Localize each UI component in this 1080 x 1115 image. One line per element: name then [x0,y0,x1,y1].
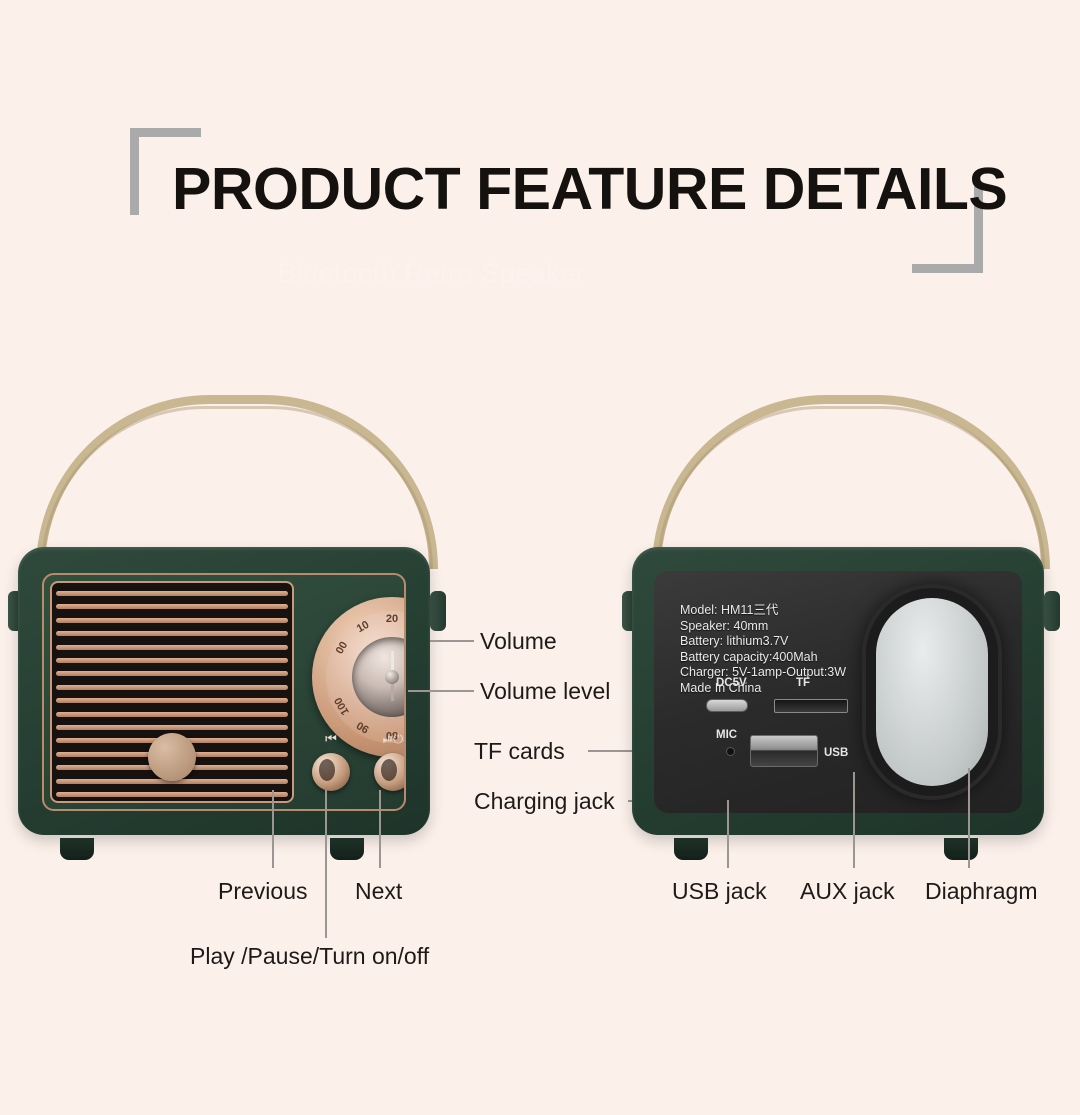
callout-previous: Previous [218,878,307,905]
handle-hinge-right-back [1044,591,1060,631]
leader-usb-jack [727,800,729,868]
speaker-grille [50,581,294,803]
front-face: 00102030405060708090100 ⏮⏯⏻⏭ [42,573,406,811]
dc5v-port[interactable] [706,699,748,712]
foot-left-back [674,838,708,860]
spec-line: Speaker: 40mm [680,619,846,635]
front-view-speaker: 00102030405060708090100 ⏮⏯⏻⏭ [0,395,470,860]
page-title: PRODUCT FEATURE DETAILS [172,155,972,223]
grille-slat [56,618,288,623]
page-subtitle: Bluetooth Retro Speaker [278,258,898,289]
leader-volume-level [408,690,474,692]
tf-label: TF [796,677,810,689]
grille-slat [56,671,288,676]
speaker-body-back: Model: HM11三代Speaker: 40mmBattery: lithi… [632,547,1044,835]
grille-slat [56,685,288,690]
callout-volume: Volume [480,628,557,655]
usb-label: USB [824,747,848,759]
previous-icon: ⏮ [325,731,337,747]
grille-slat [56,658,288,663]
grille-slat [56,604,288,609]
leader-previous [272,790,274,868]
mic-label: MIC [716,729,737,741]
grille-slat [56,712,288,717]
tf-card-slot[interactable] [774,699,848,713]
foot-right-back [944,838,978,860]
leader-play-pause [325,790,327,938]
leader-diaphragm [968,768,970,868]
play-pause-power-button[interactable]: ⏯⏻ [374,753,406,791]
carry-handle-back [652,395,1050,569]
back-panel: Model: HM11三代Speaker: 40mmBattery: lithi… [654,571,1022,813]
grille-knob [148,733,196,781]
dial-hub [385,670,399,684]
leader-next [379,790,381,868]
play-pause-power-icon: ⏯⏻ [383,731,404,747]
product-feature-page: PRODUCT FEATURE DETAILS Bluetooth Retro … [0,0,1080,1115]
callout-aux-jack: AUX jack [800,878,895,905]
diaphragm [876,598,988,786]
usb-port[interactable] [750,735,818,767]
callout-play-pause: Play /Pause/Turn on/off [190,943,429,970]
grille-slat [56,645,288,650]
previous-button[interactable]: ⏮ [312,753,350,791]
control-button-row: ⏮⏯⏻⏭ [312,731,406,791]
grille-slat [56,725,288,730]
foot-left [60,838,94,860]
callout-volume-level: Volume level [480,678,610,705]
carry-handle [36,395,438,569]
back-view-speaker: Model: HM11三代Speaker: 40mmBattery: lithi… [612,395,1080,860]
leader-aux-jack [853,772,855,868]
spec-line: Battery capacity:400Mah [680,650,846,666]
speaker-body-front: 00102030405060708090100 ⏮⏯⏻⏭ [18,547,430,835]
grille-slat [56,698,288,703]
handle-hinge-right [430,591,446,631]
grille-slat [56,631,288,636]
dc5v-label: DC5V [716,677,747,689]
foot-right [330,838,364,860]
spec-line: Battery: lithium3.7V [680,634,846,650]
leader-volume [430,640,474,642]
mic-hole [726,747,735,756]
callout-tf-cards: TF cards [474,738,565,765]
grille-slat [56,792,288,797]
callout-diaphragm: Diaphragm [925,878,1038,905]
callout-charging-jack: Charging jack [474,788,615,815]
callout-next: Next [355,878,402,905]
grille-slat [56,591,288,596]
spec-line: Model: HM11三代 [680,603,846,619]
callout-usb-jack: USB jack [672,878,767,905]
